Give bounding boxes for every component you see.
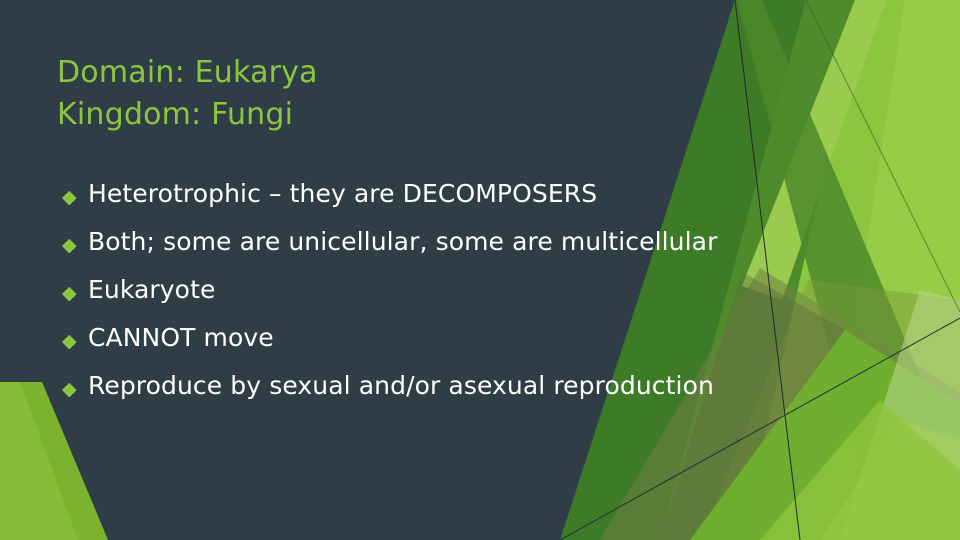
diamond-bullet-icon: ◆ bbox=[62, 317, 88, 365]
diamond-bullet-icon: ◆ bbox=[62, 269, 88, 317]
list-item: ◆ Heterotrophic – they are DECOMPOSERS bbox=[62, 170, 922, 218]
diamond-bullet-icon: ◆ bbox=[62, 173, 88, 221]
title-line-domain: Domain: Eukarya bbox=[57, 52, 697, 94]
title-line-kingdom: Kingdom: Fungi bbox=[57, 94, 697, 136]
slide-content: Domain: Eukarya Kingdom: Fungi ◆ Heterot… bbox=[0, 0, 960, 540]
bullet-list: ◆ Heterotrophic – they are DECOMPOSERS ◆… bbox=[62, 170, 922, 410]
diamond-bullet-icon: ◆ bbox=[62, 221, 88, 269]
diamond-bullet-icon: ◆ bbox=[62, 365, 88, 413]
list-item: ◆ Reproduce by sexual and/or asexual rep… bbox=[62, 362, 922, 410]
list-item: ◆ CANNOT move bbox=[62, 314, 922, 362]
slide-title: Domain: Eukarya Kingdom: Fungi bbox=[57, 52, 697, 136]
list-item-label: Reproduce by sexual and/or asexual repro… bbox=[88, 362, 714, 410]
slide-canvas: Domain: Eukarya Kingdom: Fungi ◆ Heterot… bbox=[0, 0, 960, 540]
list-item-label: Both; some are unicellular, some are mul… bbox=[88, 218, 717, 266]
list-item-label: Eukaryote bbox=[88, 266, 215, 314]
list-item: ◆ Eukaryote bbox=[62, 266, 922, 314]
list-item-label: CANNOT move bbox=[88, 314, 274, 362]
list-item-label: Heterotrophic – they are DECOMPOSERS bbox=[88, 170, 597, 218]
list-item: ◆ Both; some are unicellular, some are m… bbox=[62, 218, 922, 266]
